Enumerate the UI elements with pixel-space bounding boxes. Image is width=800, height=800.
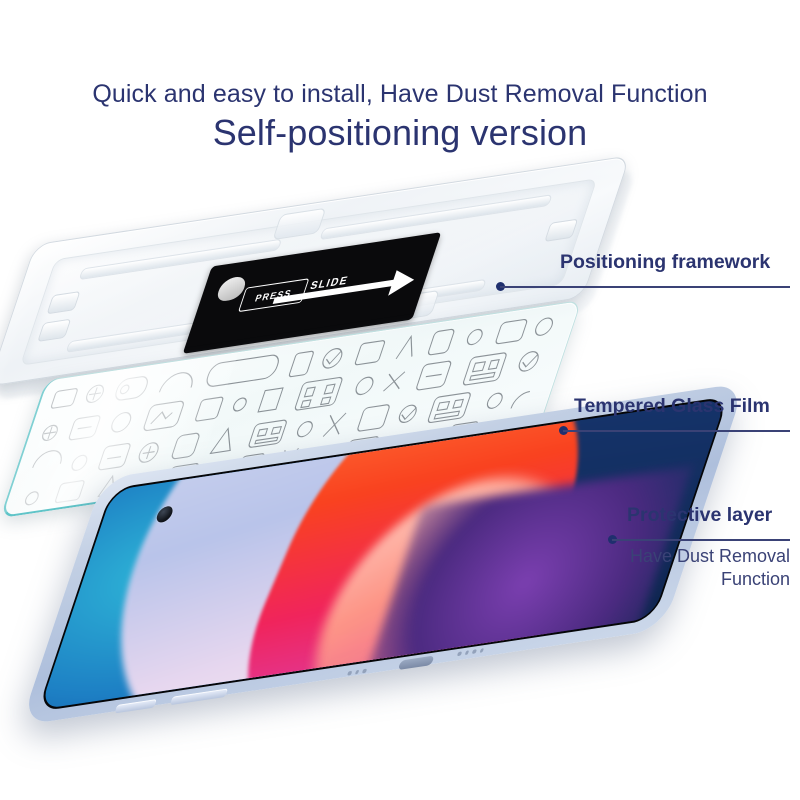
note-line-1: Have Dust Removal	[540, 545, 790, 568]
subtitle-text: Quick and easy to install, Have Dust Rem…	[0, 80, 800, 109]
speaker-grille-icon	[347, 669, 367, 675]
volume-up-button[interactable]	[114, 699, 156, 713]
speaker-grille-icon	[457, 648, 484, 656]
product-infographic: Quick and easy to install, Have Dust Rem…	[0, 0, 800, 800]
protective-layer-note: Have Dust Removal Function	[540, 545, 790, 590]
lightning-port-icon	[398, 655, 435, 670]
page-title: Self-positioning version	[0, 112, 800, 154]
callout-tempered-glass-film: Tempered Glass Film	[574, 396, 770, 417]
right-arrow-head-icon	[388, 267, 418, 296]
volume-down-button[interactable]	[170, 688, 228, 705]
leader-line	[563, 430, 790, 432]
callout-label: Positioning framework	[560, 252, 770, 273]
leader-line	[612, 539, 790, 541]
callout-label: Protective layer	[627, 505, 772, 526]
callout-protective-layer: Protective layer	[627, 505, 772, 526]
leader-line	[500, 286, 790, 288]
callout-positioning-framework: Positioning framework	[560, 252, 770, 273]
note-line-2: Function	[540, 568, 790, 591]
callout-label: Tempered Glass Film	[574, 396, 770, 417]
